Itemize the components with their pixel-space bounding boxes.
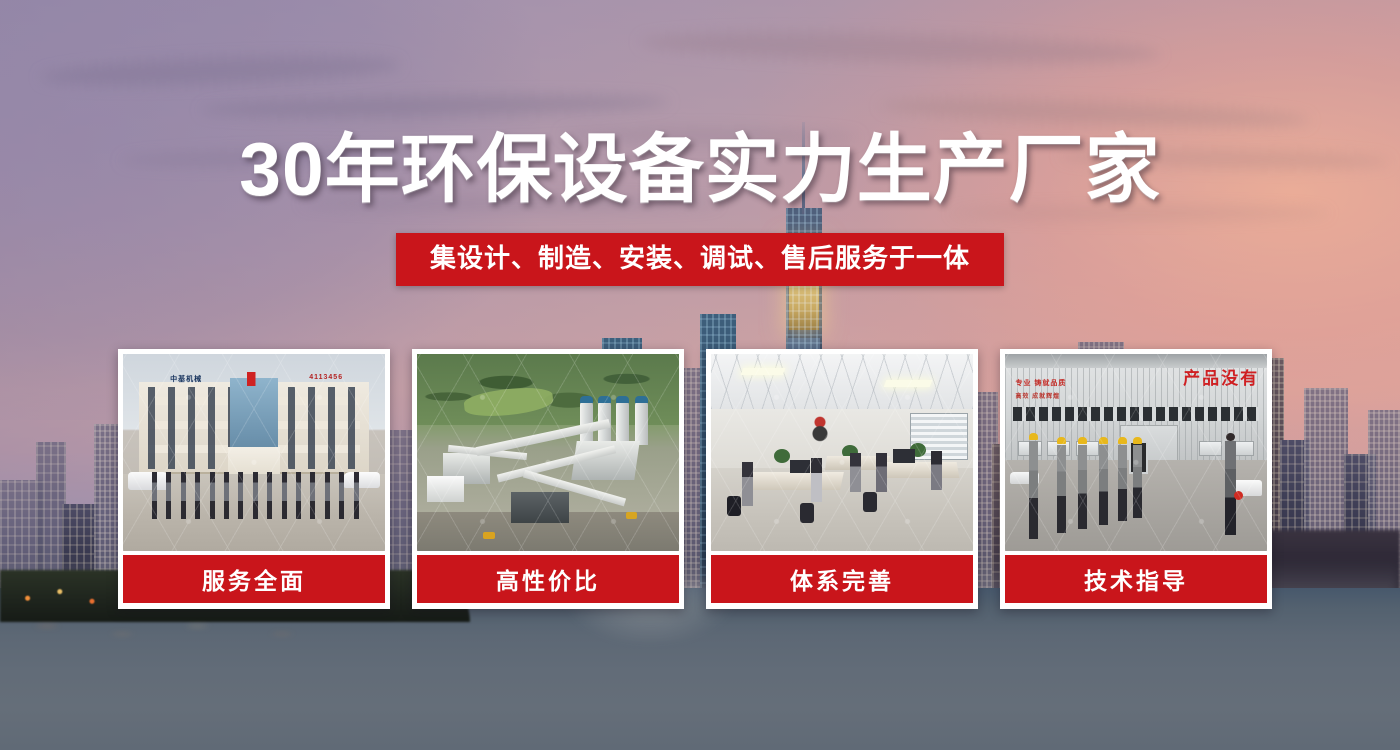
card-photo-office-building: 中基机械 4113456 [123,354,385,551]
flag-icon [247,372,260,386]
feature-card[interactable]: 中基机械 4113456 服务全面 [118,349,390,609]
feature-card[interactable]: 产品没有 专业 铸就品质 高效 成就辉煌 技术指导 [1000,349,1272,609]
card-photo-office-interior [711,354,973,551]
feature-card[interactable]: 高性价比 [412,349,684,609]
phone-number-text: 4113456 [309,374,343,381]
card-photo-plant-aerial [417,354,679,551]
wall-decal-icon [800,415,840,445]
card-caption: 技术指导 [1005,555,1267,603]
feature-card[interactable]: 体系完善 [706,349,978,609]
company-sign-text: 中基机械 [170,374,202,384]
subtitle-banner: 集设计、制造、安装、调试、售后服务于一体 [396,233,1004,286]
wall-slogan-text-1: 专业 铸就品质 [1015,378,1066,388]
factory-slogan-text: 产品没有 [1183,364,1259,389]
card-caption: 体系完善 [711,555,973,603]
promo-banner: 30年环保设备实力生产厂家 集设计、制造、安装、调试、售后服务于一体 中基机械 … [0,0,1400,750]
water-reflections [0,614,470,654]
card-caption: 服务全面 [123,555,385,603]
feature-card-list: 中基机械 4113456 服务全面 [118,349,1282,609]
wall-slogan-text-2: 高效 成就辉煌 [1015,391,1060,400]
card-photo-workers-factory: 产品没有 专业 铸就品质 高效 成就辉煌 [1005,354,1267,551]
page-title: 30年环保设备实力生产厂家 [0,132,1400,207]
card-caption: 高性价比 [417,555,679,603]
